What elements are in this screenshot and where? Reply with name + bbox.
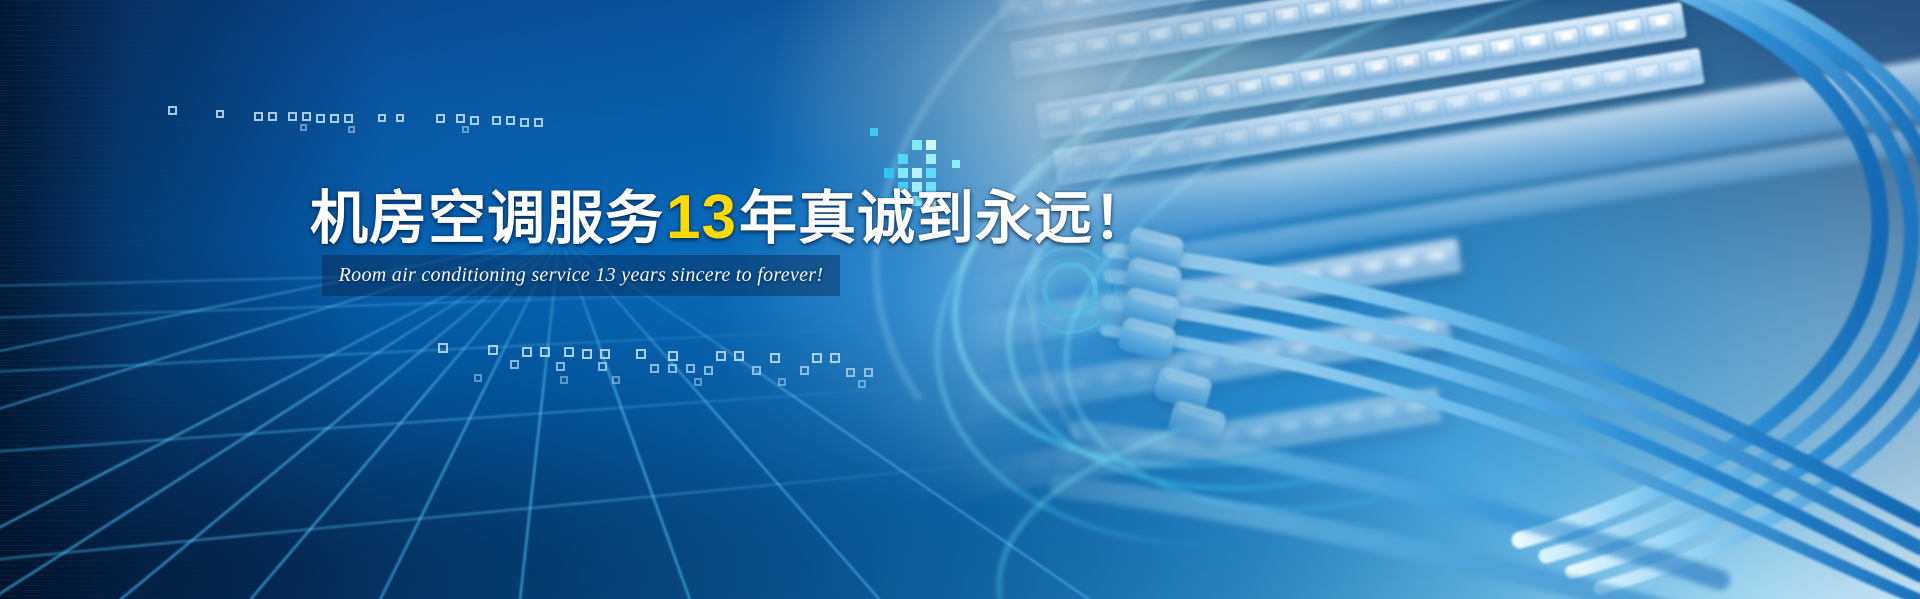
headline-number: 13 <box>664 183 739 252</box>
headline-prefix: 机房空调服务 <box>310 186 664 251</box>
headline-suffix: 年真诚到永远！ <box>739 186 1152 251</box>
banner-headline: 机房空调服务13年真诚到永远！ <box>310 171 1152 255</box>
banner-copy: 机房空调服务13年真诚到永远！ Room air conditioning se… <box>0 0 1920 599</box>
subtitle-text: Room air conditioning service 13 years s… <box>339 264 824 287</box>
promo-banner: 机房空调服务13年真诚到永远！ Room air conditioning se… <box>0 0 1920 599</box>
banner-subtitle: Room air conditioning service 13 years s… <box>322 255 840 296</box>
